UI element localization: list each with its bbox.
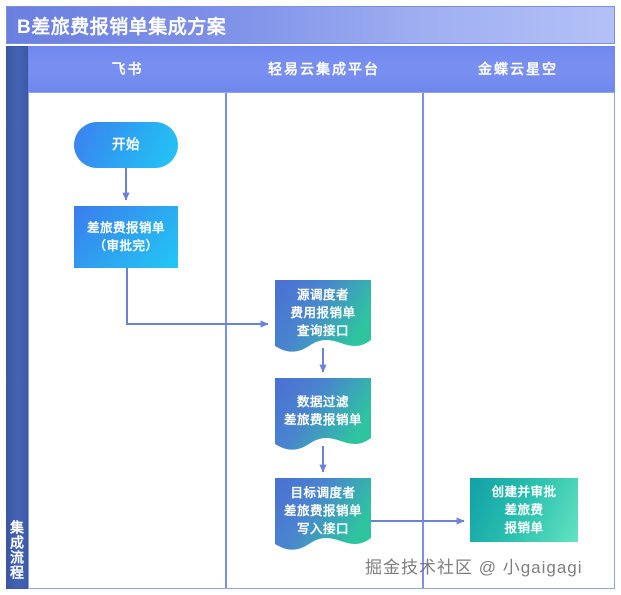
node-start[interactable]: 开始 [74, 122, 178, 168]
swimlane-header-row: 飞书 轻易云集成平台 金蝶云星空 [28, 46, 615, 92]
watermark: 掘金技术社区 @ 小gaigagi [365, 553, 583, 578]
node-source-scheduler[interactable]: 源调度者 费用报销单 查询接口 [275, 280, 371, 356]
node-create-and-approve-label: 创建并审批 差旅费 报销单 [491, 483, 556, 537]
node-source-scheduler-label: 源调度者 费用报销单 查询接口 [290, 286, 355, 350]
node-data-filter-label: 数据过滤 差旅费报销单 [284, 393, 362, 439]
page-title: B差旅费报销单集成方案 [17, 12, 226, 39]
node-expense-report[interactable]: 差旅费报销单 （审批完） [74, 206, 178, 268]
lane-divider-1 [225, 93, 227, 588]
node-start-label: 开始 [112, 135, 140, 155]
flowchart-canvas: B差旅费报销单集成方案 集成流程 飞书 轻易云集成平台 金蝶云星空 [0, 0, 621, 595]
node-expense-report-label: 差旅费报销单 （审批完） [87, 219, 165, 255]
node-data-filter[interactable]: 数据过滤 差旅费报销单 [275, 378, 371, 454]
swimlane-header-kingdee: 金蝶云星空 [422, 47, 614, 91]
node-create-and-approve[interactable]: 创建并审批 差旅费 报销单 [470, 478, 578, 542]
swimlane-sidebar-label: 集成流程 [7, 520, 27, 580]
node-target-scheduler[interactable]: 目标调度者 差旅费报销单 写入接口 [275, 478, 371, 554]
swimlane-header-qingyiyun-label: 轻易云集成平台 [268, 59, 380, 79]
swimlane-sidebar: 集成流程 [6, 46, 28, 589]
swimlane-header-qingyiyun: 轻易云集成平台 [226, 47, 422, 91]
diagram-title-bar: B差旅费报销单集成方案 [6, 6, 615, 44]
swimlane-header-feishu: 飞书 [29, 47, 226, 91]
swimlane-header-kingdee-label: 金蝶云星空 [478, 59, 558, 79]
lane-divider-2 [422, 93, 424, 588]
swimlane-header-feishu-label: 飞书 [112, 59, 144, 79]
node-target-scheduler-label: 目标调度者 差旅费报销单 写入接口 [284, 484, 362, 548]
